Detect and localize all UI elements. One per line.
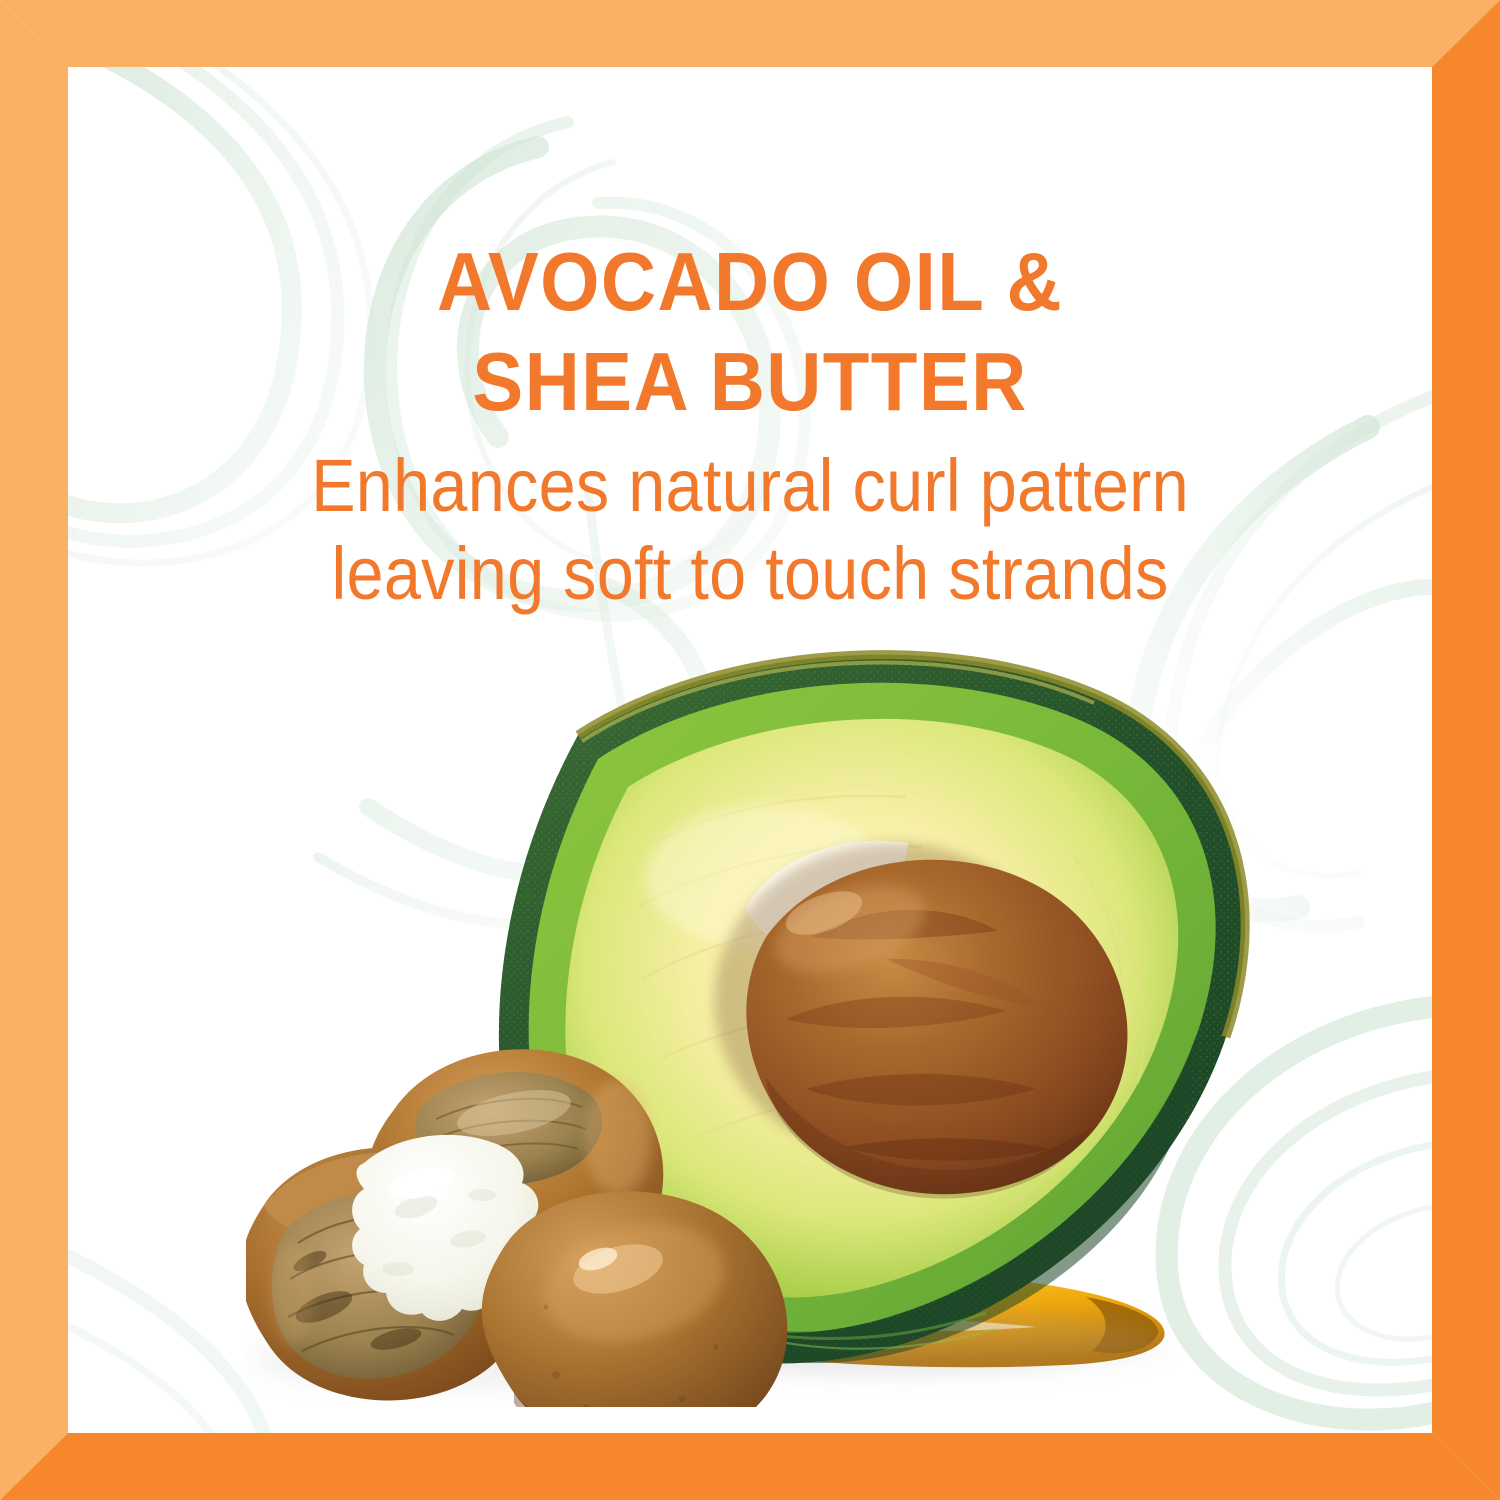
product-infographic-image: AVOCADO OIL & SHEA BUTTER Enhances natur…: [0, 0, 1500, 1500]
page-title: AVOCADO OIL & SHEA BUTTER: [123, 232, 1378, 432]
page-subtitle: Enhances natural curl pattern leaving so…: [136, 442, 1364, 618]
border-left-segment: [0, 0, 68, 1500]
border-right-segment: [1432, 0, 1500, 1500]
white-content-panel: AVOCADO OIL & SHEA BUTTER Enhances natur…: [68, 67, 1432, 1433]
ingredient-photo-illustration: [246, 607, 1276, 1407]
swirl-group-bottom-left: [68, 1247, 268, 1433]
border-top-segment: [0, 0, 1500, 67]
border-bottom-segment: [0, 1433, 1500, 1500]
